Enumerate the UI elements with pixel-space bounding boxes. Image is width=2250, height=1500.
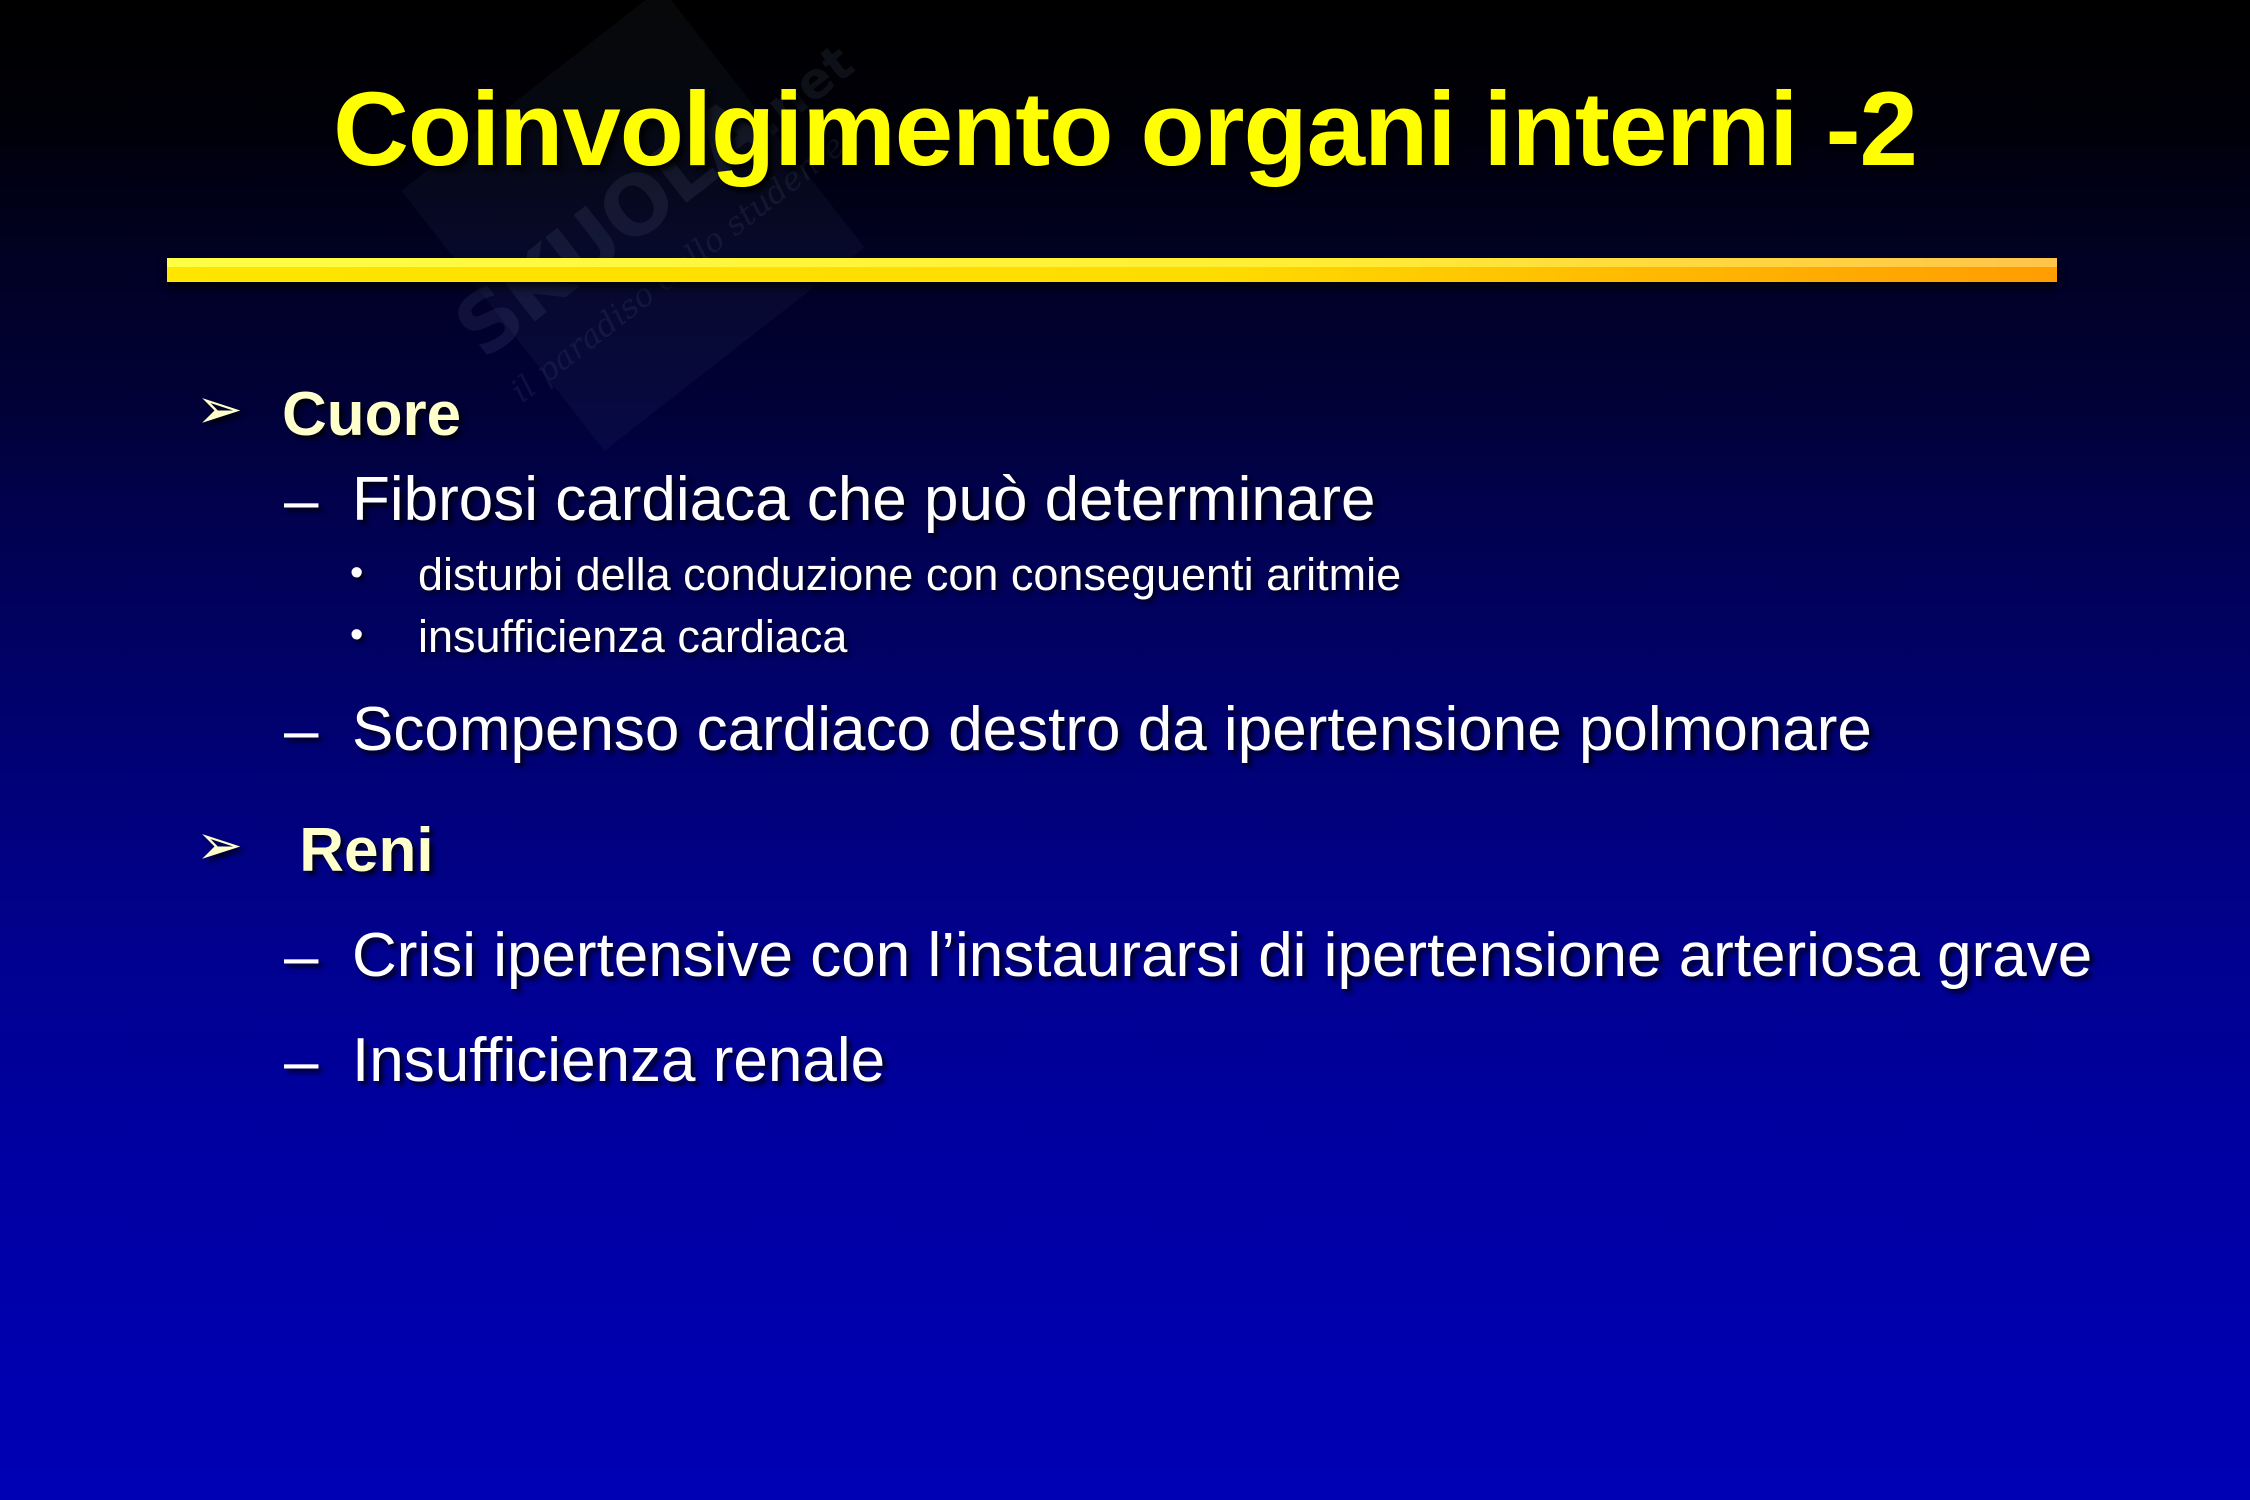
arrow-bullet-icon: ➢: [196, 818, 282, 874]
bullet-level2-crisi-ipertensive: – Crisi ipertensive con l’instaurarsi di…: [284, 921, 2250, 992]
bullet-level2-scompenso-label: Scompenso cardiaco destro da ipertension…: [352, 695, 1872, 764]
dot-bullet-icon: •: [350, 612, 418, 660]
dash-bullet-icon: –: [284, 695, 352, 766]
dash-bullet-icon: –: [284, 1026, 352, 1097]
bullet-level3-disturbi: • disturbi della conduzione con consegue…: [350, 550, 2250, 600]
title-divider-rule: [167, 258, 2057, 282]
dash-bullet-icon: –: [284, 465, 352, 536]
slide-body: ➢ Cuore – Fibrosi cardiaca che può deter…: [0, 382, 2250, 1111]
dash-bullet-icon: –: [284, 921, 352, 992]
slide-canvas: SKUOLA.net il paradiso dello studente Co…: [0, 0, 2250, 1500]
spacer: [0, 780, 2250, 818]
bullet-level2-crisi-ipertensive-label: Crisi ipertensive con l’instaurarsi di i…: [352, 921, 2092, 990]
spacer: [0, 675, 2250, 695]
bullet-level3-insufficienza-cardiaca-label: insufficienza cardiaca: [418, 612, 847, 662]
bullet-level2-insufficienza-renale: – Insufficienza renale: [284, 1026, 2250, 1097]
arrow-bullet-icon: ➢: [196, 382, 282, 438]
bullet-level1-reni-label: Reni: [282, 818, 434, 883]
bullet-level1-cuore: ➢ Cuore: [196, 382, 2250, 447]
bullet-level1-reni: ➢ Reni: [196, 818, 2250, 883]
bullet-level2-insufficienza-renale-label: Insufficienza renale: [352, 1026, 885, 1095]
title-divider-highlight: [167, 258, 2057, 267]
bullet-level3-disturbi-label: disturbi della conduzione con conseguent…: [418, 550, 1401, 600]
dot-bullet-icon: •: [350, 550, 418, 598]
spacer: [0, 1006, 2250, 1026]
bullet-level2-fibrosi-label: Fibrosi cardiaca che può determinare: [352, 465, 1376, 534]
bullet-level2-scompenso: – Scompenso cardiaco destro da ipertensi…: [284, 695, 2250, 766]
bullet-level3-insufficienza-cardiaca: • insufficienza cardiaca: [350, 612, 2250, 662]
slide-title: Coinvolgimento organi interni -2: [0, 70, 2250, 190]
spacer: [0, 901, 2250, 921]
bullet-level2-fibrosi: – Fibrosi cardiaca che può determinare: [284, 465, 2250, 536]
bullet-level1-cuore-label: Cuore: [282, 382, 461, 447]
